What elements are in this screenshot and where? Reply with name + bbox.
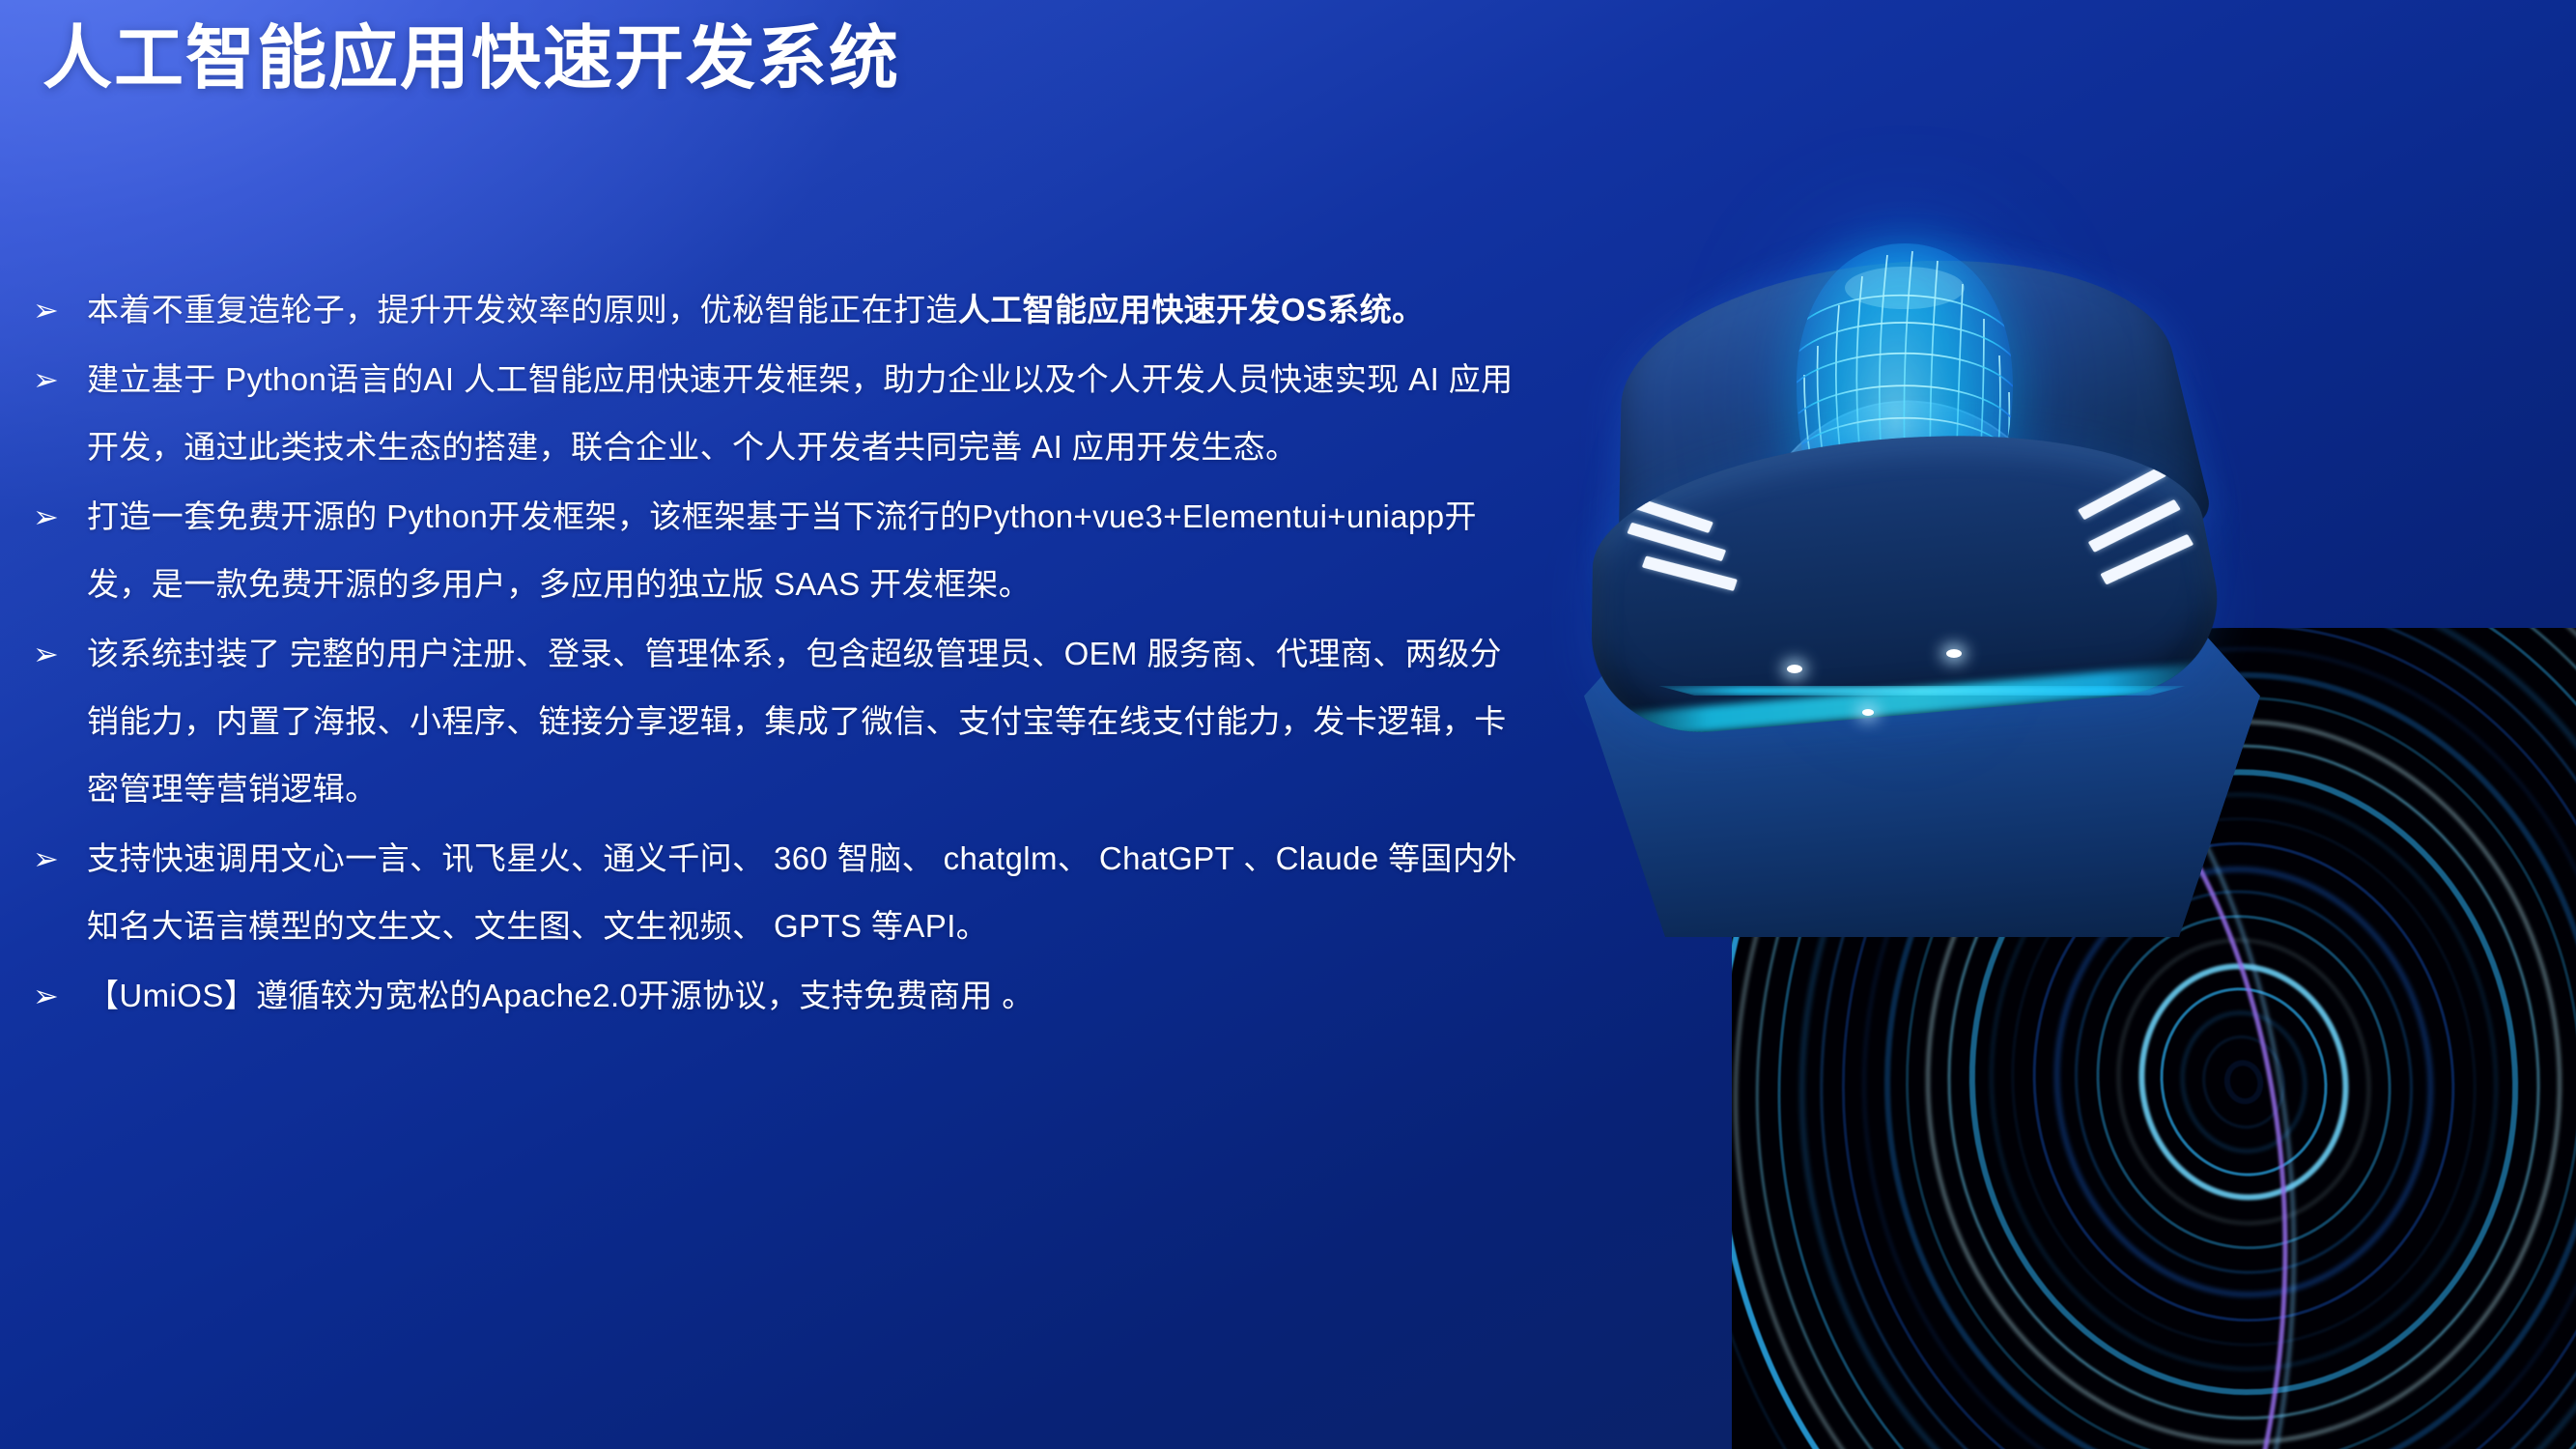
- bullet-list: ➢本着不重复造轮子，提升开发效率的原则，优秘智能正在打造人工智能应用快速开发OS…: [27, 276, 1534, 1032]
- list-item: ➢建立基于 Python语言的AI 人工智能应用快速开发框架，助力企业以及个人开…: [27, 346, 1534, 481]
- ai-wireframe-head-scanner: [1507, 203, 2376, 937]
- bullet-arrow-icon: ➢: [27, 825, 87, 893]
- list-item: ➢【UmiOS】遵循较为宽松的Apache2.0开源协议，支持免费商用 。: [27, 962, 1534, 1030]
- list-item-text: 【UmiOS】遵循较为宽松的Apache2.0开源协议，支持免费商用 。: [87, 962, 1534, 1030]
- band-hash-mark: [1627, 523, 1726, 562]
- pedestal-spark: [1946, 649, 1962, 658]
- emphasis-text: 人工智能应用快速开: [958, 292, 1249, 327]
- body-text: 本着不重复造轮子，提升开发效率的原则，优秘智能正在打造: [87, 292, 958, 327]
- body-text: 【UmiOS】遵循较为宽松的Apache2.0开源协议，支持免费商用 。: [87, 978, 1034, 1013]
- bullet-arrow-icon: ➢: [27, 620, 87, 688]
- pedestal-glow-edge: [1623, 686, 2222, 696]
- pedestal-spark: [1787, 665, 1802, 673]
- body-text: 支持快速调用文心一言、讯飞星火、通义千问、 360 智脑、 chatglm、 C…: [87, 840, 1276, 876]
- body-text: 完善 AI 应用开发生态。: [958, 429, 1298, 465]
- band-hash-mark: [1642, 555, 1738, 591]
- bullet-arrow-icon: ➢: [27, 962, 87, 1030]
- list-item-text: 本着不重复造轮子，提升开发效率的原则，优秘智能正在打造人工智能应用快速开发OS系…: [87, 276, 1534, 344]
- body-text: 建立基于 Python语言的AI 人工智能应用快速开发框架，助力企业以及个人开发…: [87, 361, 1238, 397]
- slide-canvas: 人工智能应用快速开发系统 ➢本着不重复造轮子，提升开发效率的原则，优秘智能正在打…: [0, 0, 2576, 1449]
- emphasis-text: 发OS系统。: [1248, 292, 1424, 327]
- bullet-arrow-icon: ➢: [27, 346, 87, 413]
- list-item: ➢打造一套免费开源的 Python开发框架，该框架基于当下流行的Python+v…: [27, 483, 1534, 618]
- body-text: 该系统封装了 完整的用户注册、登录、管理体系，包含超级管理员、OEM 服务商、: [87, 636, 1276, 671]
- list-item-text: 该系统封装了 完整的用户注册、登录、管理体系，包含超级管理员、OEM 服务商、代…: [87, 620, 1534, 823]
- list-item-text: 支持快速调用文心一言、讯飞星火、通义千问、 360 智脑、 chatglm、 C…: [87, 825, 1534, 960]
- pedestal-spark: [1862, 709, 1874, 716]
- bullet-arrow-icon: ➢: [27, 483, 87, 551]
- page-title: 人工智能应用快速开发系统: [42, 21, 900, 98]
- list-item: ➢该系统封装了 完整的用户注册、登录、管理体系，包含超级管理员、OEM 服务商、…: [27, 620, 1534, 823]
- bullet-arrow-icon: ➢: [27, 276, 87, 344]
- body-text: 版 SAAS 开发框架。: [732, 566, 1031, 602]
- list-item-text: 建立基于 Python语言的AI 人工智能应用快速开发框架，助力企业以及个人开发…: [87, 346, 1534, 481]
- list-item: ➢本着不重复造轮子，提升开发效率的原则，优秘智能正在打造人工智能应用快速开发OS…: [27, 276, 1534, 344]
- body-text: 打造一套免费开源的 Python开发框架，该框架基于当下流行的: [87, 498, 972, 534]
- list-item: ➢支持快速调用文心一言、讯飞星火、通义千问、 360 智脑、 chatglm、 …: [27, 825, 1534, 960]
- list-item-text: 打造一套免费开源的 Python开发框架，该框架基于当下流行的Python+vu…: [87, 483, 1534, 618]
